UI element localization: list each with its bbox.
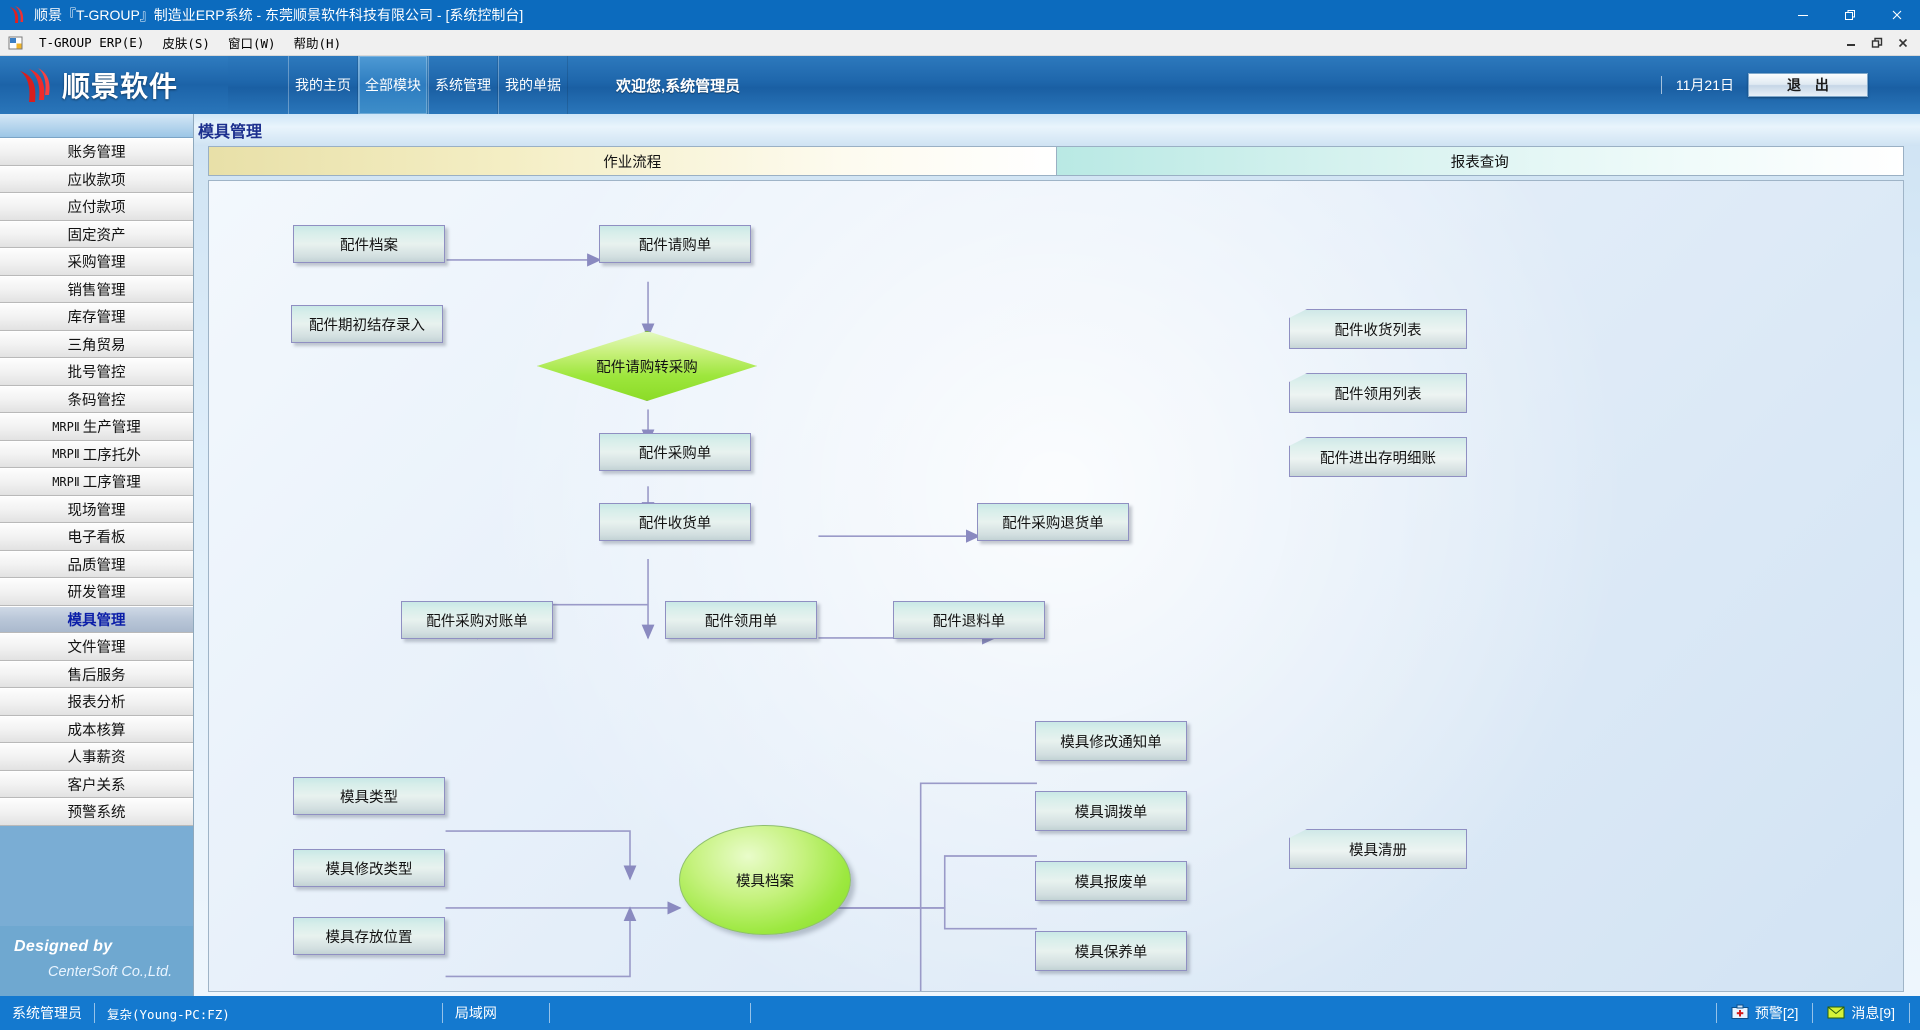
flow-node-mold-transfer[interactable]: 模具调拨单 [1035, 791, 1187, 831]
menu-item-help[interactable]: 帮助(H) [285, 31, 351, 54]
sidebar-item-rnd[interactable]: 研发管理 [0, 578, 193, 606]
menu-item-window[interactable]: 窗口(W) [219, 31, 285, 54]
header-right-zone: 11月21日 退 出 [1661, 56, 1920, 114]
sidebar-item-e-kanban[interactable]: 电子看板 [0, 523, 193, 551]
sidebar-item-hr-payroll[interactable]: 人事薪资 [0, 743, 193, 771]
body-wrapper: 账务管理 应收款项 应付款项 固定资产 采购管理 销售管理 库存管理 三角贸易 … [0, 114, 1920, 996]
sidebar-item-mrp2-outsourcing[interactable]: MRPⅡ工序托外 [0, 441, 193, 469]
flow-node-mold-master[interactable]: 模具档案 [679, 825, 851, 935]
welcome-message: 欢迎您,系统管理员 [616, 56, 740, 114]
maximize-button[interactable] [1826, 0, 1873, 30]
tab-system-admin[interactable]: 系统管理 [428, 56, 498, 114]
flow-node-mold-scrap[interactable]: 模具报废单 [1035, 861, 1187, 901]
window-title-text: 顺景『T-GROUP』制造业ERP系统 - 东莞顺景软件科技有限公司 - [系统… [34, 5, 523, 25]
page-title-bar: 模具管理 [194, 114, 1920, 146]
flow-node-parts-purchase-order[interactable]: 配件采购单 [599, 433, 751, 471]
sidebar-item-lot-control[interactable]: 批号管控 [0, 358, 193, 386]
sidebar-item-triangle-trade[interactable]: 三角贸易 [0, 331, 193, 359]
tab-all-modules[interactable]: 全部模块 [358, 56, 428, 114]
designer-credit-line2: CenterSoft Co.,Ltd. [48, 964, 172, 980]
flow-node-mold-type[interactable]: 模具类型 [293, 777, 445, 815]
sidebar-item-alert-system[interactable]: 预警系统 [0, 798, 193, 826]
sidebar-item-shopfloor[interactable]: 现场管理 [0, 496, 193, 524]
flow-node-mold-maintenance[interactable]: 模具保养单 [1035, 931, 1187, 971]
flow-node-parts-issue[interactable]: 配件领用单 [665, 601, 817, 639]
flowchart-canvas: 配件档案 配件请购单 配件期初结存录入 配件请购转采购 配件采购单 配件收货单 … [209, 181, 1903, 991]
status-divider [750, 1003, 751, 1023]
sidebar: 账务管理 应收款项 应付款项 固定资产 采购管理 销售管理 库存管理 三角贸易 … [0, 114, 194, 996]
sidebar-item-inventory[interactable]: 库存管理 [0, 303, 193, 331]
flow-node-mold-modify-type[interactable]: 模具修改类型 [293, 849, 445, 887]
close-button[interactable] [1873, 0, 1920, 30]
flow-node-parts-master[interactable]: 配件档案 [293, 225, 445, 263]
status-alerts-label: 预警[2] [1755, 1003, 1799, 1023]
status-messages-badge[interactable]: 消息[9] [1813, 1003, 1909, 1023]
app-header: 顺景软件 我的主页 全部模块 系统管理 我的单据 欢迎您,系统管理员 11月21… [0, 56, 1920, 114]
sidebar-item-purchasing[interactable]: 采购管理 [0, 248, 193, 276]
envelope-icon [1827, 1005, 1845, 1022]
flow-node-requisition-to-po[interactable]: 配件请购转采购 [537, 331, 757, 401]
shunjing-brand-icon [14, 65, 54, 105]
flow-node-parts-inventory-ledger[interactable]: 配件进出存明细账 [1289, 437, 1467, 477]
flow-node-parts-purchase-reconciliation[interactable]: 配件采购对账单 [401, 601, 553, 639]
header-divider [1661, 76, 1662, 94]
main-panel: 模具管理 作业流程 报表查询 [194, 114, 1920, 996]
flowchart-canvas-frame: 配件档案 配件请购单 配件期初结存录入 配件请购转采购 配件采购单 配件收货单 … [208, 180, 1904, 992]
alert-kit-icon [1731, 1004, 1749, 1023]
flow-node-mold-change-notice[interactable]: 模具修改通知单 [1035, 721, 1187, 761]
sidebar-item-document[interactable]: 文件管理 [0, 633, 193, 661]
sidebar-item-crm[interactable]: 客户关系 [0, 771, 193, 799]
flow-node-parts-receipt[interactable]: 配件收货单 [599, 503, 751, 541]
sidebar-filler [0, 826, 193, 927]
exit-button[interactable]: 退 出 [1748, 73, 1868, 97]
sidebar-item-sales[interactable]: 销售管理 [0, 276, 193, 304]
sidebar-item-cost-accounting[interactable]: 成本核算 [0, 716, 193, 744]
flow-node-parts-receipt-list[interactable]: 配件收货列表 [1289, 309, 1467, 349]
tab-work-flow[interactable]: 作业流程 [209, 147, 1056, 175]
tab-report-query[interactable]: 报表查询 [1056, 147, 1904, 175]
brand-name: 顺景软件 [62, 65, 178, 105]
flow-node-parts-opening-balance[interactable]: 配件期初结存录入 [291, 305, 443, 343]
sidebar-item-barcode-control[interactable]: 条码管控 [0, 386, 193, 414]
flow-node-parts-purchase-return[interactable]: 配件采购退货单 [977, 503, 1129, 541]
header-date: 11月21日 [1676, 75, 1734, 95]
mdi-close-button[interactable] [1890, 32, 1916, 54]
status-alerts-badge[interactable]: 预警[2] [1717, 1003, 1813, 1023]
menu-item-skin[interactable]: 皮肤(S) [153, 31, 219, 54]
sidebar-item-quality[interactable]: 品质管理 [0, 551, 193, 579]
sidebar-item-mold-management[interactable]: 模具管理 [0, 606, 193, 634]
status-bar: 系统管理员 复杂(Young-PC:FZ) 局域网 预警[2] [0, 996, 1920, 1030]
menu-bar: T-GROUP ERP(E) 皮肤(S) 窗口(W) 帮助(H) [0, 30, 1920, 56]
status-network: 局域网 [443, 1002, 509, 1024]
sidebar-item-accounting[interactable]: 账务管理 [0, 138, 193, 166]
sidebar-item-after-sales[interactable]: 售后服务 [0, 661, 193, 689]
page-title: 模具管理 [198, 118, 262, 142]
flow-node-parts-issue-list[interactable]: 配件领用列表 [1289, 373, 1467, 413]
flow-node-mold-storage-location[interactable]: 模具存放位置 [293, 917, 445, 955]
mdi-window-icon [8, 35, 24, 51]
tab-my-home[interactable]: 我的主页 [288, 56, 358, 114]
brand-logo: 顺景软件 [0, 56, 228, 114]
sidebar-item-fixed-assets[interactable]: 固定资产 [0, 221, 193, 249]
sidebar-item-mrp2-process[interactable]: MRPⅡ工序管理 [0, 468, 193, 496]
flow-node-mold-inventory-book[interactable]: 模具清册 [1289, 829, 1467, 869]
header-nav-tabs: 我的主页 全部模块 系统管理 我的单据 [288, 56, 568, 114]
designer-credit-line1: Designed by [14, 938, 112, 956]
flow-node-parts-requisition[interactable]: 配件请购单 [599, 225, 751, 263]
window-title-bar: 顺景『T-GROUP』制造业ERP系统 - 东莞顺景软件科技有限公司 - [系统… [0, 0, 1920, 30]
app-logo-icon [6, 4, 28, 26]
tab-my-documents[interactable]: 我的单据 [498, 56, 568, 114]
sidebar-item-payables[interactable]: 应付款项 [0, 193, 193, 221]
flow-node-requisition-to-po-label: 配件请购转采购 [596, 356, 698, 377]
status-right-zone: 预警[2] 消息[9] [1716, 1003, 1920, 1023]
status-user: 系统管理员 [0, 1002, 94, 1024]
flow-node-parts-material-return[interactable]: 配件退料单 [893, 601, 1045, 639]
sidebar-item-receivables[interactable]: 应收款项 [0, 166, 193, 194]
mdi-window-controls [1838, 30, 1916, 56]
menu-item-erp[interactable]: T-GROUP ERP(E) [30, 33, 153, 52]
mdi-restore-button[interactable] [1864, 32, 1890, 54]
content-tabs: 作业流程 报表查询 [208, 146, 1904, 176]
sidebar-item-report-analysis[interactable]: 报表分析 [0, 688, 193, 716]
mdi-minimize-button[interactable] [1838, 32, 1864, 54]
sidebar-cap [0, 114, 193, 138]
status-divider [1909, 1003, 1910, 1023]
status-messages-label: 消息[9] [1851, 1003, 1895, 1023]
sidebar-item-mrp2-production[interactable]: MRPⅡ生产管理 [0, 413, 193, 441]
status-divider [549, 1003, 550, 1023]
window-controls [1779, 0, 1920, 30]
sidebar-module-list: 账务管理 应收款项 应付款项 固定资产 采购管理 销售管理 库存管理 三角贸易 … [0, 138, 193, 826]
minimize-button[interactable] [1779, 0, 1826, 30]
sidebar-designer-credit: Designed by CenterSoft Co.,Ltd. [0, 926, 193, 996]
status-connection: 复杂(Young-PC:FZ) [95, 1002, 242, 1024]
